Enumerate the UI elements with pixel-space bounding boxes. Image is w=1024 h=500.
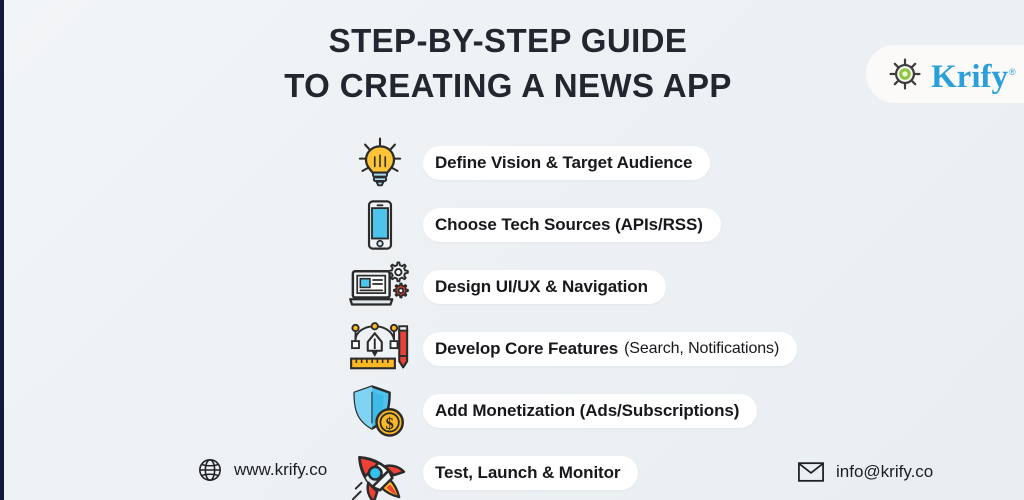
infographic-canvas: STEP-BY-STEP GUIDE TO CREATING A NEWS AP… [0,0,1024,500]
smartphone-icon [345,194,415,256]
step-pill[interactable]: Define Vision & Target Audience [423,146,710,180]
krify-logo[interactable]: Krify® [866,45,1024,103]
envelope-icon [798,462,824,482]
shield-coin-icon: $ [345,380,415,442]
email-address: info@krify.co [836,462,933,482]
laptop-gears-icon [345,256,415,318]
website-url: www.krify.co [234,460,327,480]
step-row[interactable]: Define Vision & Target Audience [0,132,1024,194]
step-pill[interactable]: Design UI/UX & Navigation [423,270,666,304]
step-pill[interactable]: Add Monetization (Ads/Subscriptions) [423,394,757,428]
step-pill[interactable]: Develop Core Features (Search, Notificat… [423,332,797,366]
step-pill[interactable]: Choose Tech Sources (APIs/RSS) [423,208,721,242]
steps-list: Define Vision & Target Audience Choose T… [0,132,1024,500]
footer-website[interactable]: www.krify.co [198,458,327,482]
step-row[interactable]: $ Add Monetization (Ads/Subscriptions) [0,380,1024,442]
footer-email[interactable]: info@krify.co [798,462,933,482]
rocket-icon [345,447,415,500]
logo-wordmark: Krify® [931,55,1016,94]
globe-icon [198,458,222,482]
step-row[interactable]: Choose Tech Sources (APIs/RSS) [0,194,1024,256]
design-tools-icon [345,318,415,380]
lightbulb-icon [345,132,415,194]
registered-trademark-icon: ® [1009,67,1016,77]
step-sublabel: (Search, Notifications) [624,340,779,358]
gear-sun-icon [888,57,922,91]
step-row[interactable]: Design UI/UX & Navigation [0,256,1024,318]
svg-text:$: $ [385,414,393,433]
step-label: Develop Core Features [435,339,618,359]
step-label: Design UI/UX & Navigation [435,277,648,297]
step-pill[interactable]: Test, Launch & Monitor [423,456,638,490]
step-label: Choose Tech Sources (APIs/RSS) [435,215,703,235]
step-label: Add Monetization (Ads/Subscriptions) [435,401,739,421]
step-row[interactable]: Develop Core Features (Search, Notificat… [0,318,1024,380]
step-label: Define Vision & Target Audience [435,153,692,173]
step-label: Test, Launch & Monitor [435,463,620,483]
